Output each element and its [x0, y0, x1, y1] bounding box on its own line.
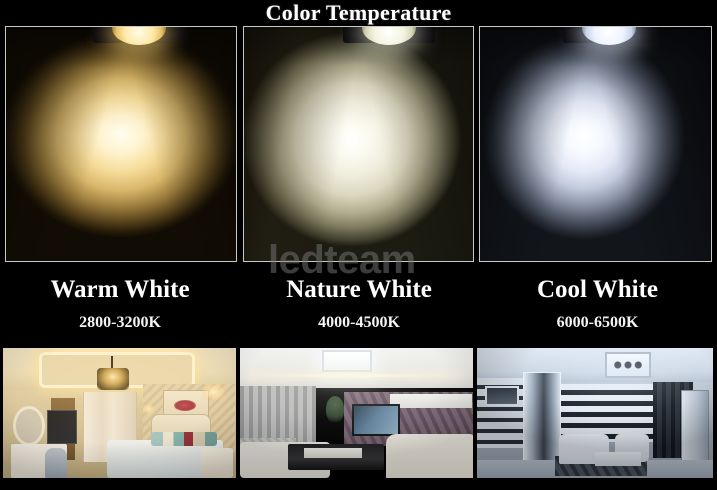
caption-warm-white: Warm White 2800-3200K	[0, 266, 240, 344]
beam-photo-warm-white	[5, 26, 237, 262]
ceiling	[477, 348, 713, 382]
page-title: Color Temperature	[266, 1, 452, 25]
caption-nature-white: Nature White 4000-4500K	[240, 266, 478, 344]
television	[352, 404, 400, 436]
ceiling-panel-light-icon	[322, 350, 372, 372]
coffee-table	[595, 452, 641, 466]
kelvin-cool-white: 6000-6500K	[478, 305, 717, 333]
caption-cool-white: Cool White 6000-6500K	[478, 266, 717, 344]
television	[47, 410, 77, 444]
beam-image-warm-white	[6, 27, 236, 261]
chair	[45, 448, 67, 478]
scene-living-room-cool	[477, 348, 713, 478]
cove-light	[246, 374, 462, 377]
pillows	[151, 432, 217, 446]
caption-row: Warm White 2800-3200K Nature White 4000-…	[0, 266, 717, 344]
oval-mirror	[13, 406, 45, 446]
scene-bedroom-warm	[3, 348, 236, 478]
ceiling-panel-light-icon	[605, 352, 651, 378]
scene-living-room-neutral	[240, 348, 473, 478]
beam-image-nature-white	[244, 27, 473, 261]
wall-wash-nature	[244, 27, 473, 261]
color-temperature-infographic: Color Temperature ledteam	[0, 0, 717, 490]
page-title-bar: Color Temperature	[0, 0, 717, 26]
coffee-table	[288, 444, 384, 470]
sofa-right	[386, 434, 473, 478]
wall-shelf	[390, 394, 472, 408]
label-cool-white: Cool White	[478, 266, 717, 305]
wall-sconce-left	[143, 404, 155, 414]
wall-art	[485, 386, 519, 406]
kelvin-nature-white: 4000-4500K	[240, 305, 478, 333]
potted-plant	[326, 396, 344, 422]
room-photo-warm-white	[3, 348, 236, 478]
beam-image-cool-white	[480, 27, 711, 261]
room-photo-nature-white	[240, 348, 473, 478]
beam-photo-row: ledteam	[0, 26, 717, 264]
label-nature-white: Nature White	[240, 266, 478, 305]
nightstand	[201, 448, 233, 478]
kelvin-warm-white: 2800-3200K	[0, 305, 240, 333]
refrigerator	[681, 390, 709, 464]
wall-sconce-right	[203, 384, 225, 400]
chandelier-icon	[97, 368, 129, 390]
room-photo-row	[0, 348, 717, 479]
room-photo-cool-white	[477, 348, 713, 478]
beam-photo-cool-white	[479, 26, 712, 262]
label-warm-white: Warm White	[0, 266, 240, 305]
wall-wash-cool	[480, 27, 711, 261]
beam-photo-nature-white	[243, 26, 474, 262]
wall-wash-warm	[6, 27, 236, 261]
